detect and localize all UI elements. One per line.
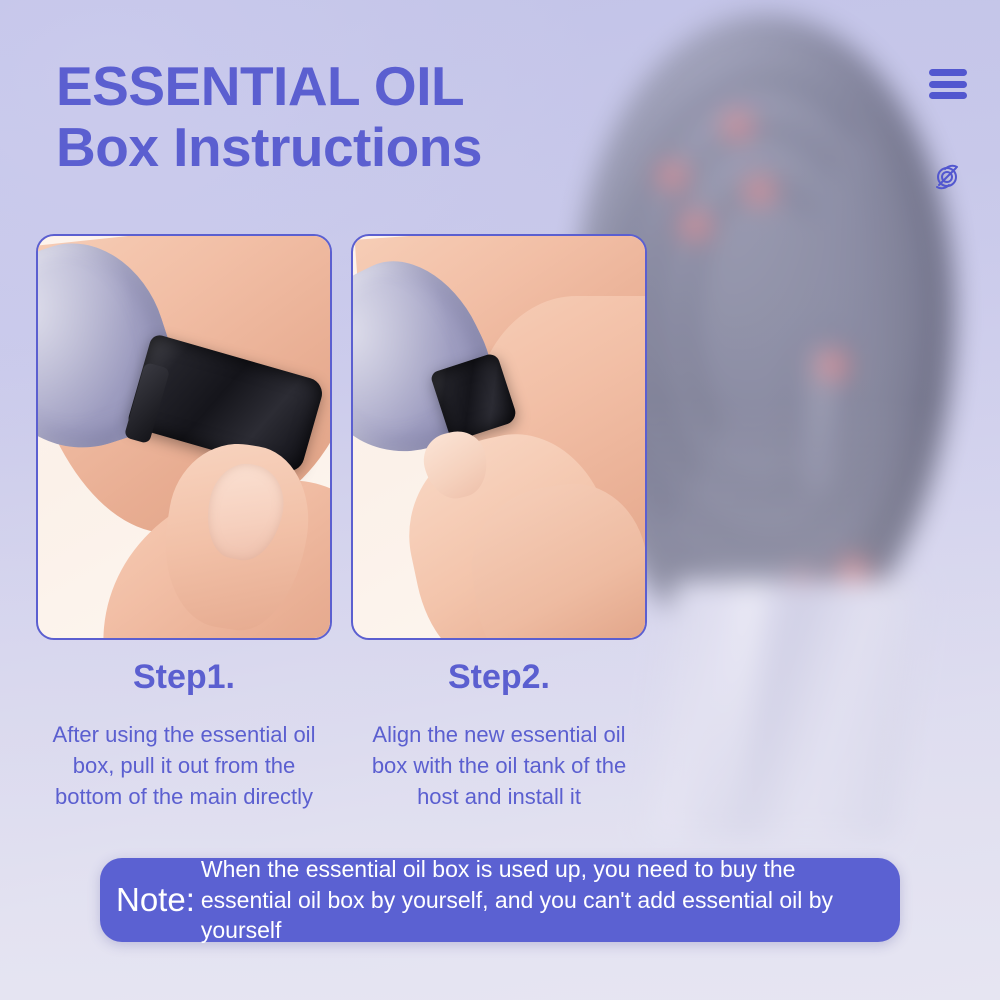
step-label: Step2. bbox=[351, 658, 647, 697]
note-text: When the essential oil box is used up, y… bbox=[201, 854, 888, 946]
menu-bar bbox=[929, 92, 967, 99]
step-2-photo bbox=[351, 234, 647, 640]
title-line-1: ESSENTIAL OIL bbox=[56, 58, 616, 115]
note-bar: Note: When the essential oil box is used… bbox=[100, 858, 900, 942]
title-line-2: Box Instructions bbox=[56, 119, 616, 176]
step-card[interactable]: Step1. After using the essential oil box… bbox=[36, 234, 332, 813]
note-label: Note: bbox=[116, 881, 195, 919]
hamburger-menu-icon[interactable] bbox=[929, 69, 967, 99]
step-label: Step1. bbox=[36, 658, 332, 697]
step-description: After using the essential oil box, pull … bbox=[36, 719, 332, 813]
menu-bar bbox=[929, 81, 967, 88]
steps-container: Step1. After using the essential oil box… bbox=[36, 234, 646, 813]
step-card[interactable]: Step2. Align the new essential oil box w… bbox=[351, 234, 647, 813]
step-1-photo bbox=[36, 234, 332, 640]
page-title: ESSENTIAL OIL Box Instructions bbox=[56, 58, 616, 176]
menu-bar bbox=[929, 69, 967, 76]
step-description: Align the new essential oil box with the… bbox=[351, 719, 647, 813]
target-slash-icon[interactable] bbox=[928, 156, 968, 196]
